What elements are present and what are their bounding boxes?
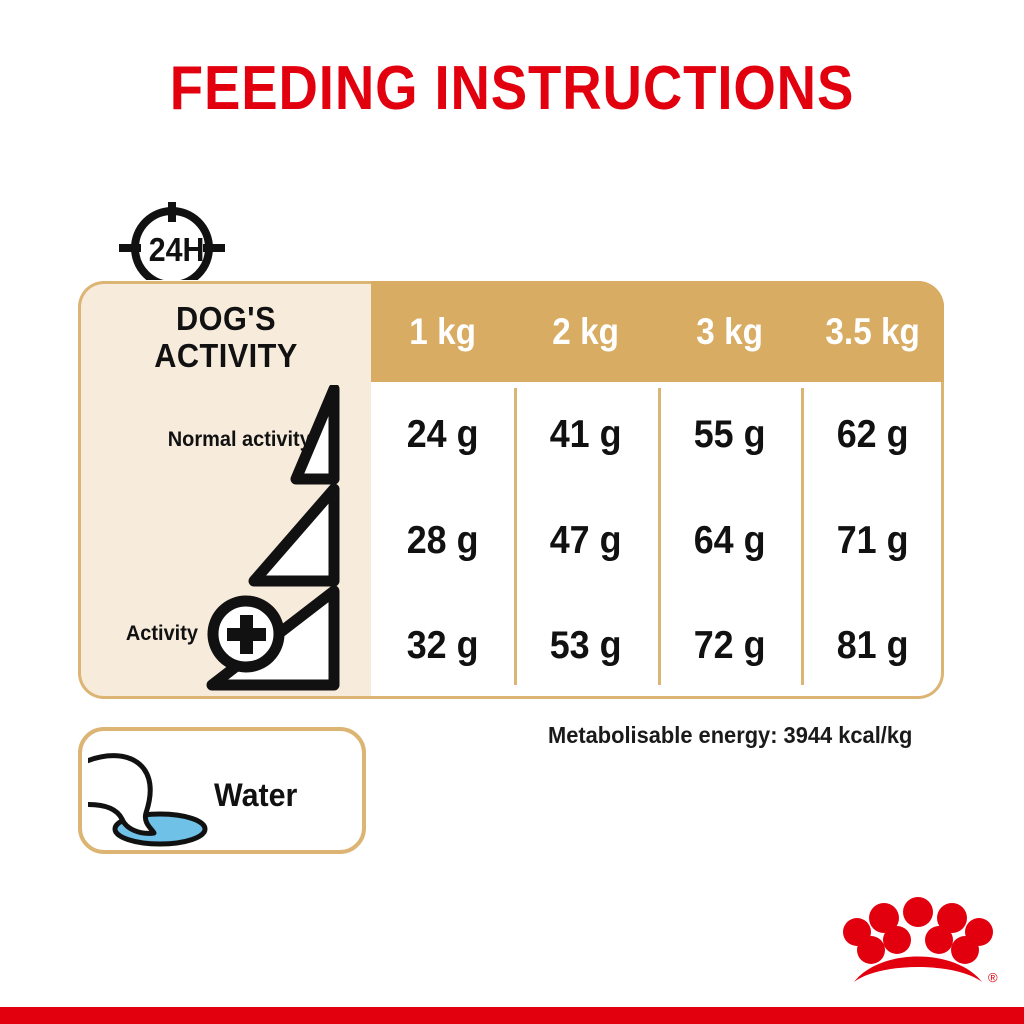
dogs-activity-line1: DOG'S (88, 301, 363, 338)
feeding-instructions-page: FEEDING INSTRUCTIONS 24H 1 kg 2 kg 3 kg … (0, 0, 1024, 1024)
table-cell: 24 g (377, 382, 509, 488)
table-cell: 71 g (806, 488, 938, 594)
table-cell: 53 g (520, 593, 652, 699)
dogs-activity-title: DOG'S ACTIVITY (88, 301, 363, 375)
metabolisable-energy-note: Metabolisable energy: 3944 kcal/kg (548, 722, 912, 749)
data-column-3kg: 55 g 64 g 72 g (658, 382, 801, 699)
activity-pyramid-icon (184, 385, 370, 697)
royal-canin-logo: ® (838, 896, 998, 992)
svg-text:24H: 24H (149, 231, 205, 268)
table-cell: 81 g (806, 593, 938, 699)
registered-mark: ® (988, 970, 998, 985)
water-box: Water (78, 727, 366, 854)
table-header-row: 1 kg 2 kg 3 kg 3.5 kg (371, 281, 944, 382)
table-cell: 55 g (663, 382, 795, 488)
water-label: Water (214, 777, 297, 814)
bottom-red-bar (0, 1007, 1024, 1024)
table-data-grid: 24 g 28 g 32 g 41 g 47 g 53 g 55 g 64 g … (371, 382, 944, 699)
column-header-4: 3.5 kg (808, 311, 937, 353)
table-cell: 41 g (520, 382, 652, 488)
feeding-table: 1 kg 2 kg 3 kg 3.5 kg DOG'S ACTIVITY Nor… (78, 281, 944, 699)
column-header-3: 3 kg (665, 311, 794, 353)
table-cell: 28 g (377, 488, 509, 594)
data-column-2kg: 41 g 47 g 53 g (514, 382, 657, 699)
data-column-3_5kg: 62 g 71 g 81 g (801, 382, 944, 699)
column-header-1: 1 kg (378, 311, 507, 353)
column-header-2: 2 kg (521, 311, 650, 353)
page-title: FEEDING INSTRUCTIONS (61, 58, 962, 120)
data-column-1kg: 24 g 28 g 32 g (371, 382, 514, 699)
dogs-activity-line2: ACTIVITY (88, 338, 363, 375)
dog-drinking-water-icon (88, 745, 228, 849)
table-cell: 72 g (663, 593, 795, 699)
table-cell: 32 g (377, 593, 509, 699)
table-cell: 47 g (520, 488, 652, 594)
table-cell: 64 g (663, 488, 795, 594)
table-cell: 62 g (806, 382, 938, 488)
clock-24h-icon: 24H (116, 202, 228, 290)
